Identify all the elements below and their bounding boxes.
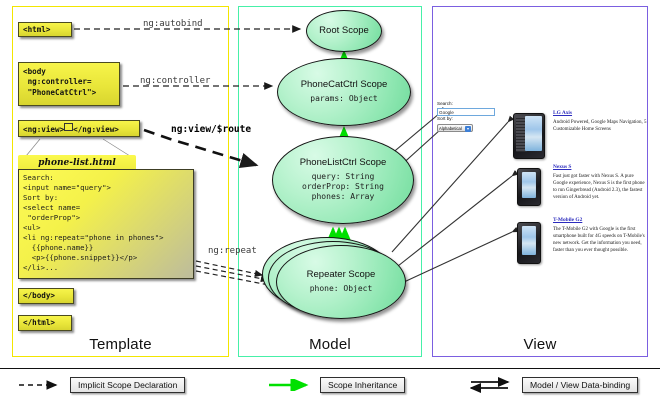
phone-list-item: LG Axis Android Powered, Google Maps Nav… bbox=[553, 110, 649, 133]
sort-by-select[interactable]: Alphabetical ▾ bbox=[437, 124, 473, 132]
phone-snippet: Android Powered, Google Maps Navigation,… bbox=[553, 119, 649, 134]
scope-repeater-props: phone: Object bbox=[310, 284, 373, 294]
tag-html-open: <html> bbox=[18, 22, 72, 37]
browser-form: Search: Google Sort by: Alphabetical ▾ bbox=[437, 101, 499, 141]
scope-phonecatctrl-name: PhoneCatCtrl Scope bbox=[301, 80, 388, 91]
legend-item-implicit-scope: Implicit Scope Declaration bbox=[18, 377, 185, 393]
green-arrow-icon bbox=[268, 379, 314, 391]
template-note: phone-list.html Search: <input name="que… bbox=[18, 155, 194, 280]
diagram-canvas: Template Model View bbox=[0, 0, 660, 405]
legend-item-scope-inheritance: Scope Inheritance bbox=[268, 377, 405, 393]
column-label-view: View bbox=[433, 336, 647, 353]
phone-list-item: T-Mobile G2 The T-Mobile G2 with Google … bbox=[553, 217, 649, 255]
phone-name-link[interactable]: Nexus S bbox=[553, 164, 649, 170]
legend-item-data-binding: Model / View Data-binding bbox=[470, 377, 638, 393]
placeholder-box-icon bbox=[64, 123, 73, 131]
scope-phonecatctrl-props: params: Object bbox=[310, 94, 377, 104]
phone-snippet: The T-Mobile G2 with Google is the first… bbox=[553, 226, 649, 255]
search-input[interactable]: Google bbox=[437, 108, 495, 116]
legend: Implicit Scope Declaration Scope Inherit… bbox=[0, 368, 660, 406]
tag-html-close: </html> bbox=[18, 315, 72, 331]
phone-thumbnail-nexus-s bbox=[517, 168, 541, 206]
column-label-model: Model bbox=[239, 336, 421, 353]
legend-label-scope-inheritance: Scope Inheritance bbox=[320, 377, 405, 393]
scope-root-name: Root Scope bbox=[319, 26, 369, 37]
tag-body-close: </body> bbox=[18, 288, 74, 304]
scope-repeater: Repeater Scope phone: Object bbox=[276, 245, 406, 319]
search-label: Search: bbox=[437, 101, 499, 108]
phone-screen bbox=[522, 172, 536, 198]
phone-list-item: Nexus S Fast just got faster with Nexus … bbox=[553, 164, 649, 202]
tag-body-open: <body ng:controller= "PhoneCatCtrl"> bbox=[18, 62, 120, 106]
label-ng-autobind: ng:autobind bbox=[143, 19, 203, 29]
tag-ngview-open: <ng:view> bbox=[23, 125, 64, 134]
label-ng-repeat: ng:repeat bbox=[208, 246, 257, 256]
scope-phonelistctrl: PhoneListCtrl Scope query: String orderP… bbox=[272, 136, 414, 224]
tag-ngview: <ng:view></ng:view> bbox=[18, 120, 140, 137]
phone-name-link[interactable]: T-Mobile G2 bbox=[553, 217, 649, 223]
scope-phonecatctrl: PhoneCatCtrl Scope params: Object bbox=[277, 58, 411, 126]
scope-phonelistctrl-props: query: String orderProp: String phones: … bbox=[302, 172, 384, 202]
phone-screen bbox=[522, 226, 536, 255]
legend-label-implicit-scope: Implicit Scope Declaration bbox=[70, 377, 185, 393]
legend-label-data-binding: Model / View Data-binding bbox=[522, 377, 638, 393]
phone-snippet: Fast just got faster with Nexus S. A pur… bbox=[553, 173, 649, 202]
column-label-template: Template bbox=[13, 336, 228, 353]
phone-thumbnail-lg-axis bbox=[513, 113, 545, 159]
sort-by-label: Sort by: bbox=[437, 116, 499, 123]
tag-ngview-close: </ng:view> bbox=[73, 125, 119, 134]
phone-screen bbox=[525, 116, 542, 151]
dashed-arrow-icon bbox=[18, 379, 64, 391]
label-ng-view-route: ng:view/$route bbox=[171, 124, 251, 135]
double-arrow-icon bbox=[470, 377, 516, 393]
note-code: Search: <input name="query"> Sort by: <s… bbox=[18, 169, 194, 279]
phone-thumbnail-tmobile-g2 bbox=[517, 222, 541, 264]
label-ng-controller: ng:controller bbox=[140, 76, 210, 86]
scope-root: Root Scope bbox=[306, 10, 382, 52]
chevron-down-icon: ▾ bbox=[465, 126, 471, 132]
sort-by-value: Alphabetical bbox=[439, 126, 462, 131]
scope-repeater-name: Repeater Scope bbox=[307, 270, 376, 281]
phone-name-link[interactable]: LG Axis bbox=[553, 110, 649, 116]
scope-phonelistctrl-name: PhoneListCtrl Scope bbox=[300, 158, 387, 169]
